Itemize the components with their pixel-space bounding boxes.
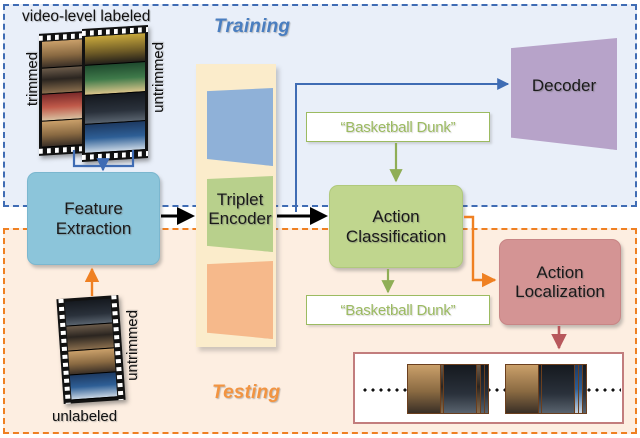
action-classification-block[interactable]: Action Classification: [329, 185, 463, 268]
untrimmed-caption: untrimmed: [150, 42, 167, 113]
feature-extraction-line2: Extraction: [56, 219, 132, 238]
film-strip-untrimmed: [82, 25, 148, 162]
film-frame: [85, 121, 145, 154]
result-gap-dots: [361, 388, 409, 392]
action-classification-line2: Classification: [346, 227, 446, 246]
film-frame: [68, 348, 116, 376]
video-level-labeled-caption: video-level labeled: [22, 8, 150, 26]
result-segment: [541, 364, 587, 416]
action-classification-line1: Action: [372, 207, 419, 226]
film-frames: [65, 299, 118, 401]
encoder-branch-anchor: [207, 88, 273, 166]
film-frame: [85, 62, 145, 95]
film-frame: [66, 323, 114, 351]
action-localization-label: Action Localization: [515, 263, 605, 301]
film-frame: [70, 373, 118, 401]
unlabeled-caption: unlabeled: [52, 408, 117, 425]
film-strip-unlabeled: [56, 295, 125, 404]
training-region-label: Training: [214, 16, 290, 38]
action-localization-block[interactable]: Action Localization: [499, 239, 621, 325]
feature-extraction-block[interactable]: Feature Extraction: [27, 172, 160, 265]
testing-untrimmed-caption: untrimmed: [124, 310, 141, 381]
action-classification-label: Action Classification: [346, 207, 446, 245]
testing-class-label-callout: “Basketball Dunk”: [306, 295, 490, 325]
film-frames: [85, 33, 145, 154]
encoder-branch-positive: [207, 176, 273, 252]
testing-region-label: Testing: [212, 382, 280, 404]
action-localization-line2: Localization: [515, 282, 605, 301]
feature-extraction-line1: Feature: [64, 199, 123, 218]
decoder-label: Decoder: [511, 76, 617, 96]
diagram-canvas: Training Testing video-level labeled tri…: [0, 0, 640, 438]
training-class-label-callout: “Basketball Dunk”: [306, 112, 490, 142]
action-localization-line1: Action: [536, 263, 583, 282]
trimmed-caption: trimmed: [24, 52, 41, 106]
encoder-branch-negative: [207, 261, 273, 339]
result-segment: [443, 364, 489, 416]
film-frame: [85, 33, 145, 66]
feature-extraction-label: Feature Extraction: [56, 199, 132, 237]
film-frame: [65, 299, 113, 327]
localization-result-panel: [353, 352, 624, 424]
film-frame: [85, 92, 145, 125]
